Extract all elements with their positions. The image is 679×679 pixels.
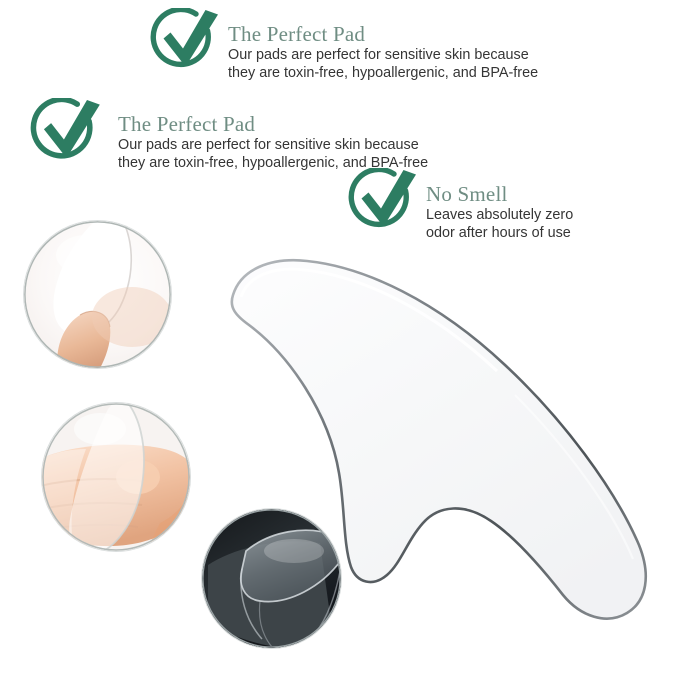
- feature-body-line-1: Leaves absolutely zero: [426, 206, 573, 224]
- feature-body-line-2: they are toxin-free, hypoallergenic, and…: [228, 64, 538, 82]
- check-circle-icon: [150, 8, 222, 91]
- infographic-canvas: The Perfect Pad Our pads are perfect for…: [0, 0, 679, 679]
- inset-photo-hand-holding-pad: [42, 403, 190, 551]
- feature-body-line-1: Our pads are perfect for sensitive skin …: [228, 46, 538, 64]
- feature-text-3: No Smell Leaves absolutely zero odor aft…: [426, 182, 573, 243]
- feature-body-line-2: odor after hours of use: [426, 224, 573, 242]
- feature-body-line-1: Our pads are perfect for sensitive skin …: [118, 136, 428, 154]
- feature-text-1: The Perfect Pad Our pads are perfect for…: [228, 22, 538, 83]
- feature-heading: The Perfect Pad: [228, 22, 538, 46]
- inset-photo-pad-closeup: [24, 221, 171, 368]
- feature-text-2: The Perfect Pad Our pads are perfect for…: [118, 112, 428, 173]
- feature-heading: No Smell: [426, 182, 573, 206]
- inset-photo-pad-on-dark-surface: [202, 509, 341, 648]
- check-circle-icon: [22, 98, 112, 183]
- check-circle-icon: [348, 168, 420, 251]
- feature-heading: The Perfect Pad: [118, 112, 428, 136]
- feature-body: Our pads are perfect for sensitive skin …: [228, 46, 538, 83]
- feature-body: Leaves absolutely zero odor after hours …: [426, 206, 573, 243]
